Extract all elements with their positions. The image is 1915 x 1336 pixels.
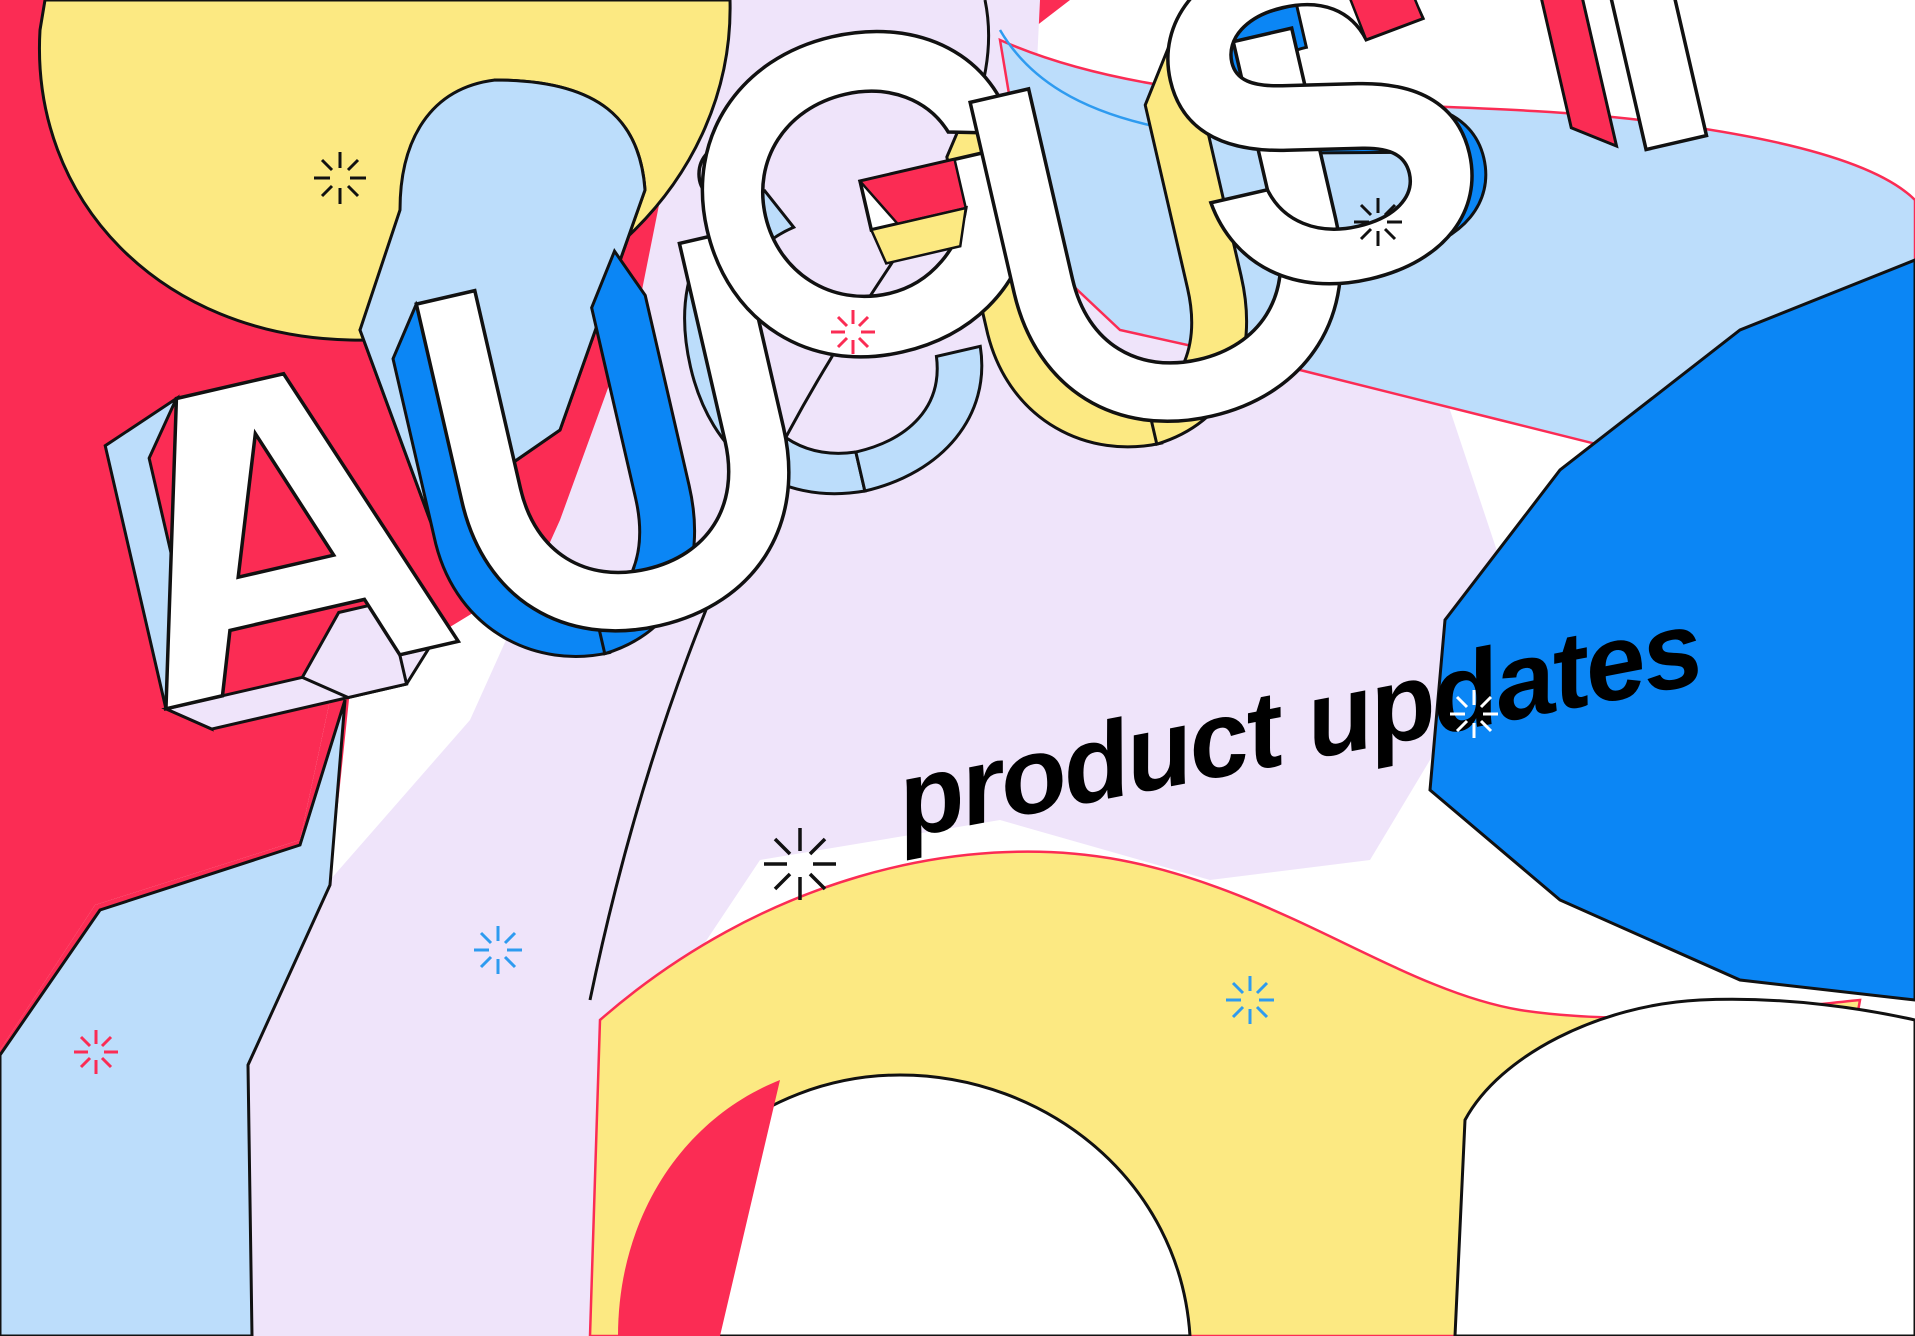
poster-artwork: product updates [0, 0, 1915, 1336]
poster-canvas: product updates [0, 0, 1915, 1336]
